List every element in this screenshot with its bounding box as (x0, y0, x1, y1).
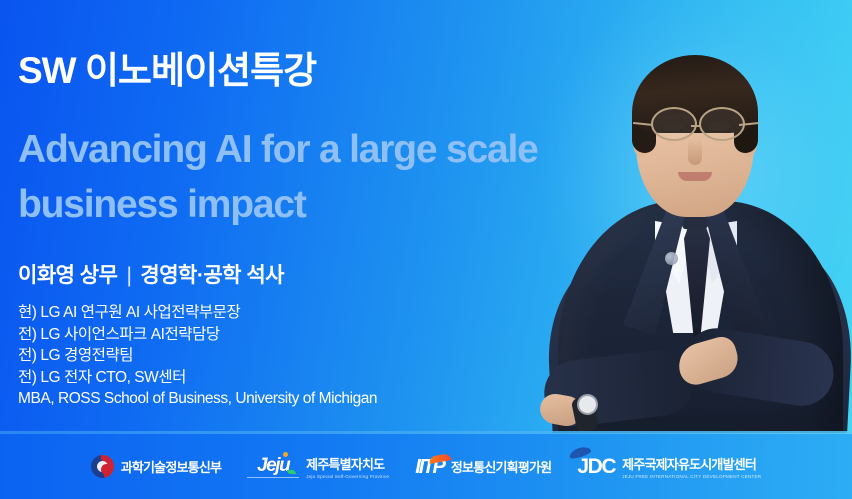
portrait-eyeglass-bridge (691, 125, 701, 127)
logo-jeju-sublabel: Jeju Special Self-Governing Province (306, 474, 389, 479)
portrait-mouth (678, 172, 712, 181)
iitp-swoosh-icon (429, 453, 452, 464)
logo-jdc-label: 제주국제자유도시개발센터 (622, 454, 761, 473)
portrait-nose (688, 139, 702, 165)
logo-iitp: IITP 정보통신기획평가원 (415, 457, 551, 477)
logo-jeju: Jeju 제주특별자치도 Jeju Special Self-Governing… (247, 454, 389, 479)
logo-jeju-label: 제주특별자치도 (306, 454, 389, 473)
jeju-rule (247, 477, 299, 478)
jeju-wordmark-icon: Jeju (247, 456, 299, 478)
jdc-wordmark-text: JDC (577, 456, 615, 477)
bio-line: 전) LG 사이언스파크 AI전략담당 (18, 324, 377, 346)
jeju-leaf-icon (287, 470, 296, 474)
bio-line: 전) LG 경영전략팀 (18, 345, 377, 367)
seminar-poster: SW 이노베이션특강 Advancing AI for a large scal… (0, 0, 852, 499)
poster-subtitle: Advancing AI for a large scale business … (18, 122, 538, 233)
jeju-wordmark-text: Jeju (257, 456, 289, 475)
bio-line: 전) LG 전자 CTO, SW센터 (18, 367, 377, 389)
taegeuk-icon (91, 455, 114, 478)
jdc-wordmark-icon: JDC (577, 456, 615, 477)
logo-jdc-sublabel: JEJU FREE INTERNATIONAL CITY DEVELOPMENT… (622, 474, 761, 479)
bio-line: 현) LG AI 연구원 AI 사업전략부문장 (18, 302, 377, 324)
speaker-line: 이화영 상무|경영학·공학 석사 (18, 259, 284, 289)
logo-jdc: JDC 제주국제자유도시개발센터 JEJU FREE INTERNATIONAL… (577, 454, 761, 479)
portrait-eyeglass-lens-left (651, 107, 697, 141)
poster-title: SW 이노베이션특강 (18, 52, 316, 89)
speaker-biography: 현) LG AI 연구원 AI 사업전략부문장 전) LG 사이언스파크 AI전… (18, 302, 377, 410)
logo-mosit: 과학기술정보통신부 (91, 455, 221, 478)
bio-line: MBA, ROSS School of Business, University… (18, 388, 377, 410)
logo-iitp-label: 정보통신기획평가원 (451, 457, 551, 476)
speaker-separator: | (126, 264, 131, 288)
portrait-lapel-pin (665, 252, 678, 265)
speaker-name: 이화영 상무 (18, 264, 117, 287)
jeju-dot-icon (283, 452, 288, 457)
logo-mosit-label: 과학기술정보통신부 (121, 457, 221, 476)
speaker-portrait (530, 0, 852, 433)
iitp-wordmark-icon: IITP (415, 457, 444, 477)
poster-subtitle-line-2: business impact (18, 177, 538, 232)
speaker-degree: 경영학·공학 석사 (140, 264, 284, 287)
poster-subtitle-line-1: Advancing AI for a large scale (18, 122, 538, 177)
sponsor-logo-bar: 과학기술정보통신부 Jeju 제주특별자치도 Jeju Special Self… (0, 434, 852, 499)
